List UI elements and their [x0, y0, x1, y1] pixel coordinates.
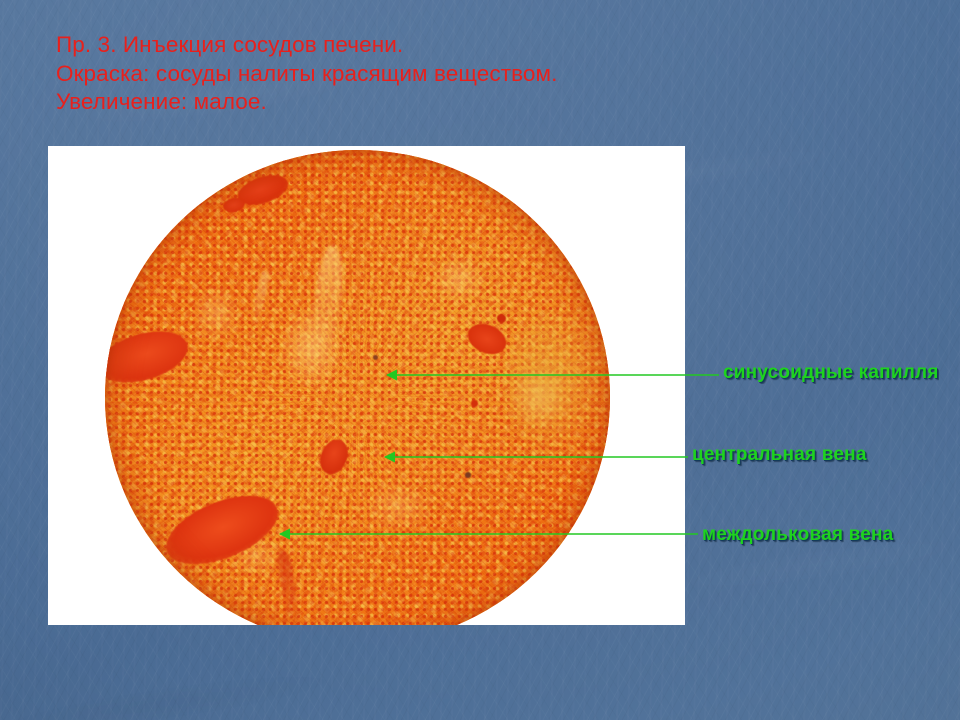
micrograph-frame: [48, 146, 685, 625]
title-line-1: Пр. 3. Инъекция сосудов печени.: [56, 31, 696, 60]
slide-title-block: Пр. 3. Инъекция сосудов печени. Окраска:…: [56, 31, 696, 117]
liver-micrograph-image: [105, 150, 610, 625]
specimen-edge-shading: [105, 150, 610, 625]
slide-canvas: Пр. 3. Инъекция сосудов печени. Окраска:…: [0, 0, 960, 720]
annotation-label-central-vein: центральная вена: [692, 444, 867, 466]
annotation-label-sinusoidal-capillaries: синусоидные капилля: [723, 362, 939, 384]
micrograph-clip: [48, 146, 685, 625]
title-line-3: Увеличение: малое.: [56, 88, 696, 117]
annotation-label-interlobular-vein: междольковая вена: [702, 524, 893, 546]
title-line-2: Окраска: сосуды налиты красящим вещество…: [56, 60, 696, 89]
